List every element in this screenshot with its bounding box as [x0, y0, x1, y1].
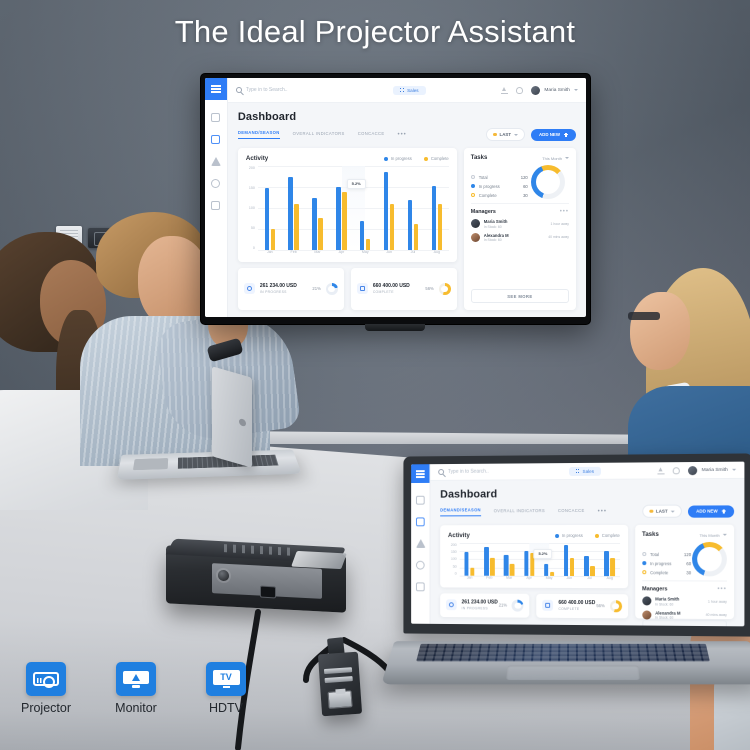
- tasks-list: Total 120 In progress 60 Complete 30: [642, 543, 691, 574]
- y-tick: 100: [246, 206, 255, 210]
- task-label-1: In progress: [650, 561, 671, 566]
- bar-group-Feb: [282, 166, 306, 250]
- bar-complete-Feb: [490, 558, 494, 576]
- task-dot-1: [642, 561, 646, 565]
- tasks-list: Total 120 In progress 60 Complete 30: [471, 167, 528, 198]
- managers-title: Managers: [471, 209, 496, 215]
- chevron-down-icon: [671, 510, 675, 512]
- search-icon: [438, 469, 444, 475]
- stat-percent-0: 21%: [312, 286, 320, 291]
- tasks-donut-chart: [531, 165, 565, 199]
- bar-inprogress-May: [544, 564, 548, 575]
- tab-2[interactable]: CONCACCE: [358, 131, 385, 139]
- manager-avatar-0: [471, 219, 480, 228]
- stat-ring-0: [512, 600, 524, 612]
- topbar: Type in to Search.. Sales Maria Smith: [228, 78, 586, 103]
- bar-complete-Mar: [318, 218, 323, 249]
- task-dot-2: [471, 193, 475, 197]
- chart-legend: In progress Complete: [384, 156, 449, 161]
- y-tick: 0: [246, 246, 255, 250]
- tasks-range-select[interactable]: This Month: [699, 532, 726, 537]
- tabs-overflow[interactable]: •••: [397, 132, 406, 138]
- stat-card-1[interactable]: 660 400.00 USD COMPLETE 56%: [351, 268, 457, 310]
- bar-group-May: [539, 543, 559, 576]
- stat-card-0[interactable]: 261 234.00 USD IN PROGRESS 21%: [440, 593, 529, 617]
- bar-complete-Jul: [414, 224, 419, 250]
- bar-complete-Jun: [390, 204, 395, 250]
- plus-icon: [564, 133, 568, 137]
- bar-group-Aug: [600, 543, 620, 576]
- rail-alert-icon[interactable]: [415, 539, 425, 548]
- sidebar-rail: [411, 464, 430, 624]
- add-new-button[interactable]: ADD NEW: [531, 129, 576, 141]
- chevron-down-icon: [565, 157, 569, 159]
- bar-group-Jul: [401, 166, 425, 250]
- legend-item-1: Complete: [424, 156, 449, 161]
- hamburger-icon[interactable]: [205, 78, 227, 100]
- chevron-down-icon: [514, 134, 518, 136]
- bar-complete-Jun: [570, 558, 574, 576]
- bar-complete-Jan: [271, 229, 276, 250]
- laptop-background-lid: [212, 366, 252, 467]
- more-dots-icon[interactable]: •••: [560, 209, 569, 215]
- tab-bar: DEMAND/SEASONOVERALL INDICATORSCONCACCE …: [238, 128, 576, 141]
- upload-icon[interactable]: [501, 87, 508, 94]
- stat-percent-1: 56%: [596, 604, 604, 609]
- bell-icon[interactable]: [673, 467, 680, 474]
- status-dot-icon: [649, 509, 653, 513]
- manager-meta-1: 40 mins away: [548, 235, 569, 239]
- activity-title: Activity: [448, 532, 470, 539]
- x-tick-Jul: Jul: [579, 576, 599, 584]
- bar-group-Jul: [579, 543, 599, 576]
- user-menu[interactable]: Maria Smith: [531, 86, 578, 95]
- bar-inprogress-Mar: [312, 198, 317, 250]
- legend-swatch-0: [384, 157, 388, 161]
- laptop-keyboard[interactable]: [416, 644, 710, 661]
- stat-value-0: 261 234.00 USD: [260, 283, 297, 289]
- y-tick: 0: [448, 571, 457, 575]
- stat-value-1: 660 400.00 USD: [558, 600, 591, 606]
- y-tick: 100: [448, 557, 457, 561]
- bar-inprogress-Jan: [464, 552, 468, 576]
- tab-bar: DEMAND/SEASONOVERALL INDICATORSCONCACCE …: [440, 504, 734, 518]
- chart-tooltip: 5.2%: [533, 549, 552, 559]
- y-tick: 150: [448, 550, 457, 554]
- bar-complete-Mar: [510, 563, 514, 575]
- bars: [460, 543, 620, 576]
- legend-item-1: Complete: [595, 533, 620, 538]
- bar-inprogress-Jun: [564, 545, 568, 575]
- bell-icon[interactable]: [516, 87, 523, 94]
- manager-row-1[interactable]: Alexandra M In Stock: 60 40 mins away: [471, 233, 569, 243]
- projector-icon: [33, 672, 59, 686]
- user-name: Maria Smith: [702, 467, 728, 472]
- sales-chip[interactable]: Sales: [393, 86, 426, 95]
- hub-usb-port-2[interactable]: [325, 676, 353, 683]
- task-row-0: Total 120: [642, 552, 691, 557]
- task-row-2: Complete 30: [642, 570, 691, 575]
- x-tick-Jun: Jun: [377, 250, 401, 258]
- x-tick-Jan: Jan: [258, 250, 282, 258]
- tab-1[interactable]: OVERALL INDICATORS: [293, 131, 345, 139]
- x-tick-Jan: Jan: [460, 575, 480, 583]
- task-label-0: Total: [479, 175, 488, 180]
- y-axis: 200150100500: [448, 543, 460, 583]
- x-tick-Mar: Mar: [306, 250, 330, 258]
- bar-inprogress-Apr: [336, 187, 341, 250]
- legend-item-0: In progress: [555, 533, 583, 538]
- stat-ring-1: [439, 283, 451, 295]
- task-dot-1: [471, 184, 475, 188]
- legend-label-1: Complete: [602, 533, 620, 538]
- see-more-button[interactable]: SEE MORE: [642, 619, 727, 626]
- badge-monitor[interactable]: Monitor: [108, 662, 164, 715]
- badge-hdtv[interactable]: TV HDTV: [198, 662, 254, 715]
- more-dots-icon[interactable]: •••: [717, 587, 727, 593]
- add-new-button[interactable]: ADD NEW: [688, 505, 734, 517]
- hdtv-icon: TV: [213, 670, 240, 688]
- stat-label-1: COMPLETE: [373, 290, 410, 294]
- y-tick: 200: [246, 166, 255, 170]
- badge-projector[interactable]: Projector: [18, 662, 74, 715]
- bar-group-Jun: [377, 166, 401, 250]
- stat-cards: 261 234.00 USD IN PROGRESS 21% 660 400.0…: [238, 268, 457, 310]
- usb-ethernet-hub[interactable]: [318, 652, 362, 717]
- task-value-0: 120: [684, 552, 691, 557]
- legend-label-1: Complete: [431, 156, 449, 161]
- badge-monitor-label: Monitor: [108, 701, 164, 715]
- task-label-2: Complete: [650, 570, 668, 575]
- bar-group-Jan: [258, 166, 282, 250]
- laptop-base: [381, 641, 750, 684]
- manager-avatar-0: [642, 597, 651, 606]
- tab-0[interactable]: DEMAND/SEASON: [440, 507, 481, 516]
- managers-title: Managers: [642, 586, 668, 592]
- rail-document-icon[interactable]: [211, 135, 220, 144]
- last-filter-button[interactable]: LAST: [486, 128, 525, 141]
- x-axis: JanFebMarAprMayJunJulAug: [460, 575, 620, 584]
- bar-inprogress-May: [360, 221, 365, 250]
- y-tick: 200: [448, 543, 457, 547]
- dashboard-laptop: Type in to Search.. Sales Maria Smith Da…: [411, 462, 744, 627]
- manager-role-0: In Stock: 60: [484, 225, 508, 229]
- chart-tooltip: 5.2%: [347, 179, 366, 189]
- activity-chart-card: Activity In progress Complete 2001501005…: [238, 148, 457, 262]
- dashboard-tv: Type in to Search.. Sales Maria Smith Da…: [205, 78, 586, 317]
- laptop-trackpad[interactable]: [506, 665, 640, 679]
- sales-chip[interactable]: Sales: [569, 466, 601, 475]
- bar-inprogress-Jul: [408, 200, 413, 250]
- laptop-screen-lid: Type in to Search.. Sales Maria Smith Da…: [403, 453, 750, 636]
- bar-complete-Aug: [438, 204, 443, 250]
- x-tick-Feb: Feb: [282, 250, 306, 258]
- activity-title: Activity: [246, 155, 268, 162]
- plus-icon: [722, 509, 726, 513]
- x-tick-Jun: Jun: [559, 576, 579, 584]
- rail-dashboard-icon[interactable]: [416, 496, 425, 505]
- page-title: The Ideal Projector Assistant: [0, 14, 750, 50]
- search-icon: [236, 87, 242, 93]
- rail-shield-icon[interactable]: [416, 561, 425, 570]
- search-placeholder: Type in to Search..: [448, 469, 489, 475]
- stat-value-1: 660 400.00 USD: [373, 283, 410, 289]
- stat-card-1[interactable]: 660 400.00 USD COMPLETE 56%: [537, 594, 628, 619]
- device-badges: Projector Monitor TV HDTV: [18, 662, 254, 715]
- manager-role-0: In Stock: 60: [655, 602, 679, 606]
- task-dot-2: [642, 570, 646, 574]
- bar-chart: 200150100500: [448, 543, 620, 584]
- legend-swatch-1: [424, 157, 428, 161]
- bar-inprogress-Aug: [604, 551, 609, 576]
- y-axis: 200150100500: [246, 166, 258, 258]
- dashboard-heading: Dashboard: [238, 111, 576, 123]
- stat-percent-0: 21%: [499, 603, 507, 608]
- task-row-1: In progress 60: [471, 184, 528, 189]
- task-dot-0: [471, 175, 475, 179]
- tab-0[interactable]: DEMAND/SEASON: [238, 130, 280, 139]
- legend-label-0: In progress: [391, 156, 412, 161]
- bar-complete-Feb: [294, 204, 299, 250]
- x-tick-May: May: [539, 576, 559, 584]
- laptop-background-base: [117, 450, 302, 480]
- x-tick-Aug: Aug: [425, 250, 449, 258]
- manager-row-0[interactable]: Maria Smith In Stock: 60 1 hour away: [471, 219, 569, 229]
- search-input[interactable]: Type in to Search..: [236, 87, 352, 93]
- stat-ring-0: [326, 283, 338, 295]
- tab-1[interactable]: OVERALL INDICATORS: [494, 508, 545, 516]
- manager-name-0: Maria Smith: [655, 596, 679, 601]
- manager-avatar-1: [642, 610, 651, 619]
- legend-item-0: In progress: [384, 156, 412, 161]
- status-dot-icon: [493, 133, 497, 137]
- bar-complete-Jul: [590, 566, 595, 576]
- bar-complete-Aug: [610, 558, 615, 576]
- x-tick-Aug: Aug: [600, 576, 620, 584]
- last-filter-button[interactable]: LAST: [642, 505, 682, 518]
- bar-inprogress-Jun: [384, 172, 389, 250]
- chevron-down-icon: [723, 534, 727, 536]
- tasks-card: Tasks This Month Total 120 In progress 6…: [635, 525, 734, 619]
- gear-icon: [446, 600, 457, 611]
- chevron-down-icon: [732, 469, 736, 471]
- legend-swatch-1: [595, 533, 599, 537]
- bar-group-Mar: [499, 543, 519, 576]
- stat-label-1: COMPLETE: [558, 607, 591, 611]
- wall-mounted-tv: Type in to Search.. Sales Maria Smith Da…: [201, 74, 590, 324]
- x-tick-Mar: Mar: [499, 576, 519, 584]
- badge-projector-label: Projector: [18, 701, 74, 715]
- monitor-icon: [123, 671, 149, 688]
- y-tick: 50: [246, 226, 255, 230]
- tasks-title: Tasks: [642, 532, 659, 538]
- task-row-0: Total 120: [471, 175, 528, 180]
- gear-icon: [244, 283, 255, 294]
- bar-group-Jun: [559, 543, 579, 576]
- manager-meta-0: 1 hour away: [551, 222, 569, 226]
- bar-complete-Jan: [470, 567, 474, 575]
- bar-complete-May: [366, 239, 371, 249]
- laptop-front: Type in to Search.. Sales Maria Smith Da…: [392, 455, 750, 750]
- task-row-2: Complete 30: [471, 193, 528, 198]
- activity-chart-card: Activity In progress Complete 2001501005…: [440, 525, 628, 588]
- stat-value-0: 261 234.00 USD: [462, 600, 494, 606]
- rail-dashboard-icon[interactable]: [211, 113, 220, 122]
- tasks-title: Tasks: [471, 155, 488, 161]
- bar-inprogress-Feb: [288, 177, 293, 250]
- hdtv-screen-text: TV: [213, 670, 240, 685]
- bar-inprogress-Jul: [584, 556, 588, 576]
- legend-label-0: In progress: [562, 533, 583, 538]
- bar-inprogress-Feb: [484, 547, 488, 575]
- hamburger-icon[interactable]: [411, 464, 429, 483]
- bar-group-Jan: [460, 543, 480, 576]
- y-tick: 150: [246, 186, 255, 190]
- x-tick-Feb: Feb: [479, 576, 499, 584]
- book-icon: [357, 283, 368, 294]
- hub-ethernet-port[interactable]: [328, 690, 353, 709]
- stat-ring-1: [610, 600, 622, 612]
- rail-copy-icon[interactable]: [211, 201, 220, 210]
- avatar: [688, 466, 697, 475]
- x-tick-Jul: Jul: [401, 250, 425, 258]
- y-tick: 50: [448, 564, 457, 568]
- see-more-button[interactable]: SEE MORE: [471, 289, 569, 303]
- task-label-2: Complete: [479, 193, 497, 198]
- rail-shield-icon[interactable]: [211, 179, 220, 188]
- stat-card-0[interactable]: 261 234.00 USD IN PROGRESS 21%: [238, 268, 344, 310]
- tv-stand: [365, 324, 425, 331]
- sidebar-rail: [205, 78, 228, 317]
- bar-inprogress-Aug: [432, 186, 437, 250]
- user-menu[interactable]: Maria Smith: [688, 465, 736, 474]
- manager-name-0: Maria Smith: [484, 219, 508, 224]
- chart-legend: In progress Complete: [555, 533, 620, 538]
- tasks-donut-chart: [692, 542, 727, 577]
- upload-icon[interactable]: [658, 467, 665, 474]
- manager-meta-0: 1 hour away: [708, 599, 727, 603]
- stat-percent-1: 56%: [425, 286, 433, 291]
- bar-group-Aug: [425, 166, 449, 250]
- bar-inprogress-Apr: [524, 551, 528, 575]
- task-label-1: In progress: [479, 184, 500, 189]
- tabs-overflow[interactable]: •••: [598, 508, 607, 514]
- grid-icon: [400, 88, 404, 92]
- avatar: [531, 86, 540, 95]
- legend-swatch-0: [555, 534, 559, 538]
- task-label-0: Total: [650, 552, 659, 557]
- stat-cards: 261 234.00 USD IN PROGRESS 21% 660 400.0…: [440, 593, 628, 618]
- search-input[interactable]: Type in to Search..: [438, 468, 537, 475]
- search-placeholder: Type in to Search..: [246, 87, 288, 93]
- bar-chart: 200150100500: [246, 166, 449, 258]
- task-dot-0: [642, 552, 646, 556]
- x-tick-Apr: Apr: [329, 250, 353, 258]
- grid-icon: [576, 469, 580, 473]
- manager-role-1: In Stock: 60: [484, 238, 509, 242]
- laptop-background-trackpad: [133, 458, 168, 470]
- x-tick-May: May: [353, 250, 377, 258]
- tasks-range-select[interactable]: This Month: [542, 156, 569, 161]
- stat-label-0: IN PROGRESS: [462, 607, 494, 611]
- manager-meta-1: 40 mins away: [706, 613, 727, 617]
- task-value-0: 120: [521, 175, 528, 180]
- bar-group-Feb: [479, 543, 499, 576]
- manager-name-1: Alexandra M: [484, 233, 509, 238]
- bar-complete-Apr: [342, 192, 347, 250]
- tasks-card: Tasks This Month Total 120 In progress 6…: [464, 148, 576, 310]
- x-tick-Apr: Apr: [519, 576, 539, 584]
- rail-alert-icon[interactable]: [211, 157, 221, 166]
- stat-label-0: IN PROGRESS: [260, 290, 297, 294]
- chevron-down-icon: [574, 89, 578, 91]
- bar-group-Mar: [306, 166, 330, 250]
- bar-inprogress-Mar: [504, 555, 508, 575]
- manager-row-0[interactable]: Maria Smith In Stock: 60 1 hour away: [642, 596, 727, 606]
- x-axis: JanFebMarAprMayJunJulAug: [258, 250, 449, 258]
- dashboard-heading: Dashboard: [440, 487, 734, 501]
- manager-name-1: Alexandra M: [655, 610, 680, 615]
- topbar: Type in to Search.. Sales Maria Smith: [431, 462, 745, 481]
- laptop-background: [120, 372, 295, 482]
- hub-usb-port-1[interactable]: [324, 667, 352, 674]
- tab-2[interactable]: CONCACCE: [558, 507, 585, 515]
- manager-avatar-1: [471, 233, 480, 242]
- bar-inprogress-Jan: [265, 188, 270, 250]
- task-row-1: In progress 60: [642, 561, 691, 566]
- rail-document-icon[interactable]: [416, 517, 425, 526]
- book-icon: [543, 600, 554, 611]
- rail-copy-icon[interactable]: [416, 582, 425, 591]
- badge-hdtv-label: HDTV: [198, 701, 254, 715]
- bar-group-Apr: [519, 543, 539, 576]
- user-name: Maria Smith: [544, 88, 570, 93]
